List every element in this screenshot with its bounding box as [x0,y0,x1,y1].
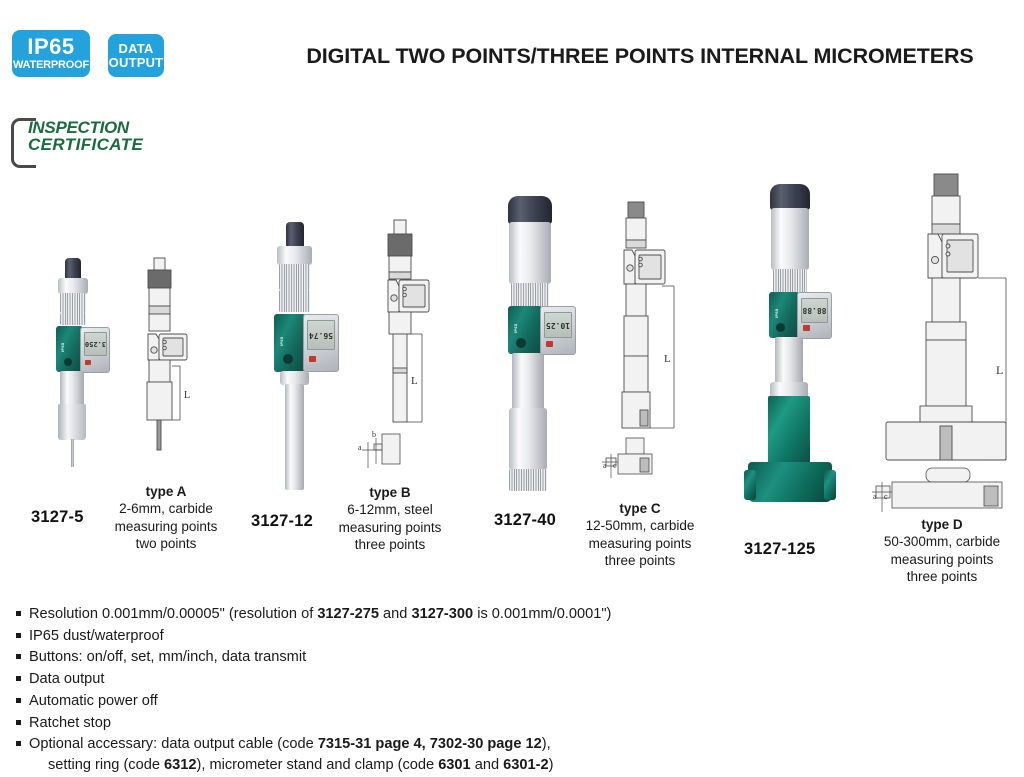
feature-span: Optional accessary: data output cable (c… [29,736,318,752]
power-button[interactable] [64,358,72,366]
bullet-square-icon [16,611,21,616]
feature-text: Automatic power off [29,693,158,709]
feature-body: Resolution 0.001mm/0.00005" (resolution … [29,604,1010,625]
inspection-certificate-text: INSPECTION CERTIFICATE [28,119,143,154]
feature-body: Buttons: on/off, set, mm/inch, data tran… [29,647,1010,668]
bullet-square-icon [16,698,21,703]
bullet-square-icon [16,676,21,681]
barrel-scale [60,313,86,325]
spec-line-0-1: 2-6mm, carbide [96,500,236,517]
lcd-housing: 56.74 [303,314,339,372]
technical-drawing-type-d: L a c [872,168,1024,518]
feature-text: Resolution 0.001mm/0.00005" (resolution … [29,606,611,622]
product-code-2: 3127-40 [494,511,556,530]
product-photo-3127-12: IP65 56.74 [262,222,338,490]
dimension-label-c: c [884,492,888,501]
lcd-reading: 56.74 [308,321,334,349]
feature-span: IP65 dust/waterproof [29,628,164,644]
thimble-cap [770,184,810,210]
ratchet-sleeve [277,246,312,265]
feature-body: Data output [29,669,1010,690]
spec-block-type-c: type C 12-50mm, carbide measuring points… [566,500,714,569]
feature-code: 6301-2 [503,757,548,773]
spindle-shaft [512,353,544,411]
product-photo-3127-5: IP65 3.250 [38,258,108,468]
feature-span: Automatic power off [29,693,158,709]
badge-inspection-certificate: INSPECTION CERTIFICATE [8,116,188,166]
type-name-1: type B [320,484,460,501]
spindle-shaft [60,371,84,405]
thimble-cap [508,196,552,224]
product-code-0: 3127-5 [31,508,84,527]
power-button[interactable] [516,338,526,348]
ip65-marking: IP65 [279,337,284,346]
dimension-label-a: a [873,492,877,501]
dimension-label-L: L [184,390,190,401]
bullet-square-icon [16,720,21,725]
feature-body: Ratchet stop [29,713,1010,734]
measuring-barrel [509,408,547,470]
measuring-head [509,469,547,491]
spec-line-2-2: measuring points [566,535,714,552]
ratchet-sleeve [509,222,551,284]
product-photo-3127-125: IP65 88.88 [742,184,838,520]
lcd-reading: 88.88 [802,299,827,322]
spec-line-1-1: 6-12mm, steel [320,501,460,518]
display-body: IP65 [508,306,542,354]
lcd-screen: 10.25 [544,312,572,338]
feature-text: setting ring (code 6312), micrometer sta… [48,757,553,773]
inspection-line2: CERTIFICATE [28,136,143,153]
spec-line-1-2: measuring points [320,519,460,536]
feature-code: 6301 [438,757,470,773]
feature-span: and [471,757,503,773]
feature-text: Ratchet stop [29,715,111,731]
ratchet-sleeve [771,208,809,270]
spec-line-3-1: 50-300mm, carbide [864,533,1020,550]
feature-span: and [379,606,411,622]
badge-data-line1: DATA [119,42,154,55]
feature-code: 3127-300 [411,606,473,622]
feature-span: setting ring (code [48,757,164,773]
spec-line-3-2: measuring points [864,551,1020,568]
badge-data-line2: OUTPUT [109,56,164,69]
display-body: IP65 [274,314,306,372]
dimension-label-a: a [358,443,362,452]
foot-right-jaw [824,470,836,500]
feature-body: Optional accessary: data output cable (c… [29,734,1010,775]
feature-item: Resolution 0.001mm/0.00005" (resolution … [10,604,1010,625]
feature-span: ) [549,757,554,773]
feature-item: Automatic power off [10,691,1010,712]
feature-span: Resolution 0.001mm/0.00005" (resolution … [29,606,317,622]
type-name-2: type C [566,500,714,517]
inspection-line1: INSPECTION [28,119,143,136]
lcd-screen: 3.250 [84,332,107,356]
spec-line-0-2: measuring points [96,518,236,535]
feature-text: IP65 dust/waterproof [29,628,164,644]
thimble-cap [286,222,304,248]
measuring-point-needle [71,439,74,467]
feature-span: Data output [29,671,104,687]
feature-item: IP65 dust/waterproof [10,626,1010,647]
feature-text: Data output [29,671,104,687]
feature-span: ), [542,736,551,752]
feature-item: Buttons: on/off, set, mm/inch, data tran… [10,647,1010,668]
badge-ip65-waterproof: IP65 WATERPROOF [12,30,90,77]
feature-text: Buttons: on/off, set, mm/inch, data tran… [29,649,306,665]
ip65-marking: IP65 [60,343,65,352]
bullet-square-icon [16,633,21,638]
spec-line-0-3: two points [96,535,236,552]
lcd-screen: 88.88 [801,298,828,323]
type-name-3: type D [864,516,1020,533]
ratchet-sleeve [58,278,88,294]
ip65-marking: IP65 [513,324,518,333]
spec-line-1-3: three points [320,536,460,553]
lower-collar [280,371,309,385]
dimension-label-c: c [613,461,617,470]
type-name-0: type A [96,483,236,500]
catalog-page: IP65 WATERPROOF DATA OUTPUT INSPECTION C… [0,0,1024,768]
power-button[interactable] [283,354,293,364]
lcd-screen: 56.74 [307,320,335,350]
feature-span: ), micrometer stand and clamp (code [196,757,438,773]
page-title: DIGITAL TWO POINTS/THREE POINTS INTERNAL… [262,44,1018,69]
feature-code: 7315-31 page 4, 7302-30 page 12 [318,736,542,752]
lcd-housing: 88.88 [797,292,832,339]
technical-drawing-type-c: L a c [602,198,702,488]
knurled-sleeve [511,283,549,307]
feature-text: Optional accessary: data output cable (c… [29,736,551,752]
set-button[interactable] [309,356,316,362]
set-button[interactable] [85,360,91,365]
spec-block-type-d: type D 50-300mm, carbide measuring point… [864,516,1020,585]
spec-line-3-3: three points [864,568,1020,585]
feature-code: 6312 [164,757,196,773]
lcd-housing: 10.25 [540,306,576,355]
bullet-square-icon [16,741,21,746]
ip65-marking: IP65 [774,309,779,318]
base-foot [748,462,832,502]
feature-span: is 0.001mm/0.0001") [473,606,611,622]
badge-data-output: DATA OUTPUT [108,34,164,77]
product-code-3: 3127-125 [744,540,815,559]
feature-span: Ratchet stop [29,715,111,731]
thimble-cap [65,258,81,280]
bullet-square-icon [16,654,21,659]
dimension-label-L: L [996,363,1003,377]
measuring-rod [285,384,304,490]
technical-drawing-type-a: L [132,256,244,456]
dimension-label-L: L [411,375,418,387]
technical-drawing-type-b: L a b [352,192,462,482]
foot-left-jaw [744,470,756,500]
badge-ip65-line2: WATERPROOF [13,60,89,71]
measuring-body-green [768,396,810,468]
power-button[interactable] [776,323,785,332]
display-body: IP65 [56,326,83,372]
dimension-label-L: L [664,353,671,365]
knurled-sleeve [60,293,86,313]
feature-list: Resolution 0.001mm/0.00005" (resolution … [10,604,1010,777]
measuring-head [58,404,86,440]
spec-block-type-b: type B 6-12mm, steel measuring points th… [320,484,460,553]
barrel-scale [279,290,310,312]
feature-item: Data output [10,669,1010,690]
feature-body: Automatic power off [29,691,1010,712]
product-photo-3127-40: IP65 10.25 [500,196,574,496]
spindle-shaft [775,337,803,387]
feature-body: IP65 dust/waterproof [29,626,1010,647]
spec-block-type-a: type A 2-6mm, carbide measuring points t… [96,483,236,552]
dimension-label-b: b [372,430,376,439]
lcd-housing: 3.250 [80,327,110,373]
knurled-sleeve [773,269,807,293]
set-button[interactable] [546,341,553,347]
lcd-reading: 10.25 [545,313,571,337]
dimension-label-a: a [603,461,607,470]
feature-code: 3127-275 [317,606,379,622]
display-body: IP65 [769,292,799,338]
feature-item: Optional accessary: data output cable (c… [10,734,1010,775]
feature-span: Buttons: on/off, set, mm/inch, data tran… [29,649,306,665]
knurled-sleeve [279,264,310,290]
product-code-1: 3127-12 [251,512,313,531]
set-button[interactable] [803,325,810,331]
feature-item: Ratchet stop [10,713,1010,734]
spec-line-2-3: three points [566,552,714,569]
spec-line-2-1: 12-50mm, carbide [566,517,714,534]
lcd-reading: 3.250 [85,333,106,355]
badge-ip65-line1: IP65 [27,36,74,58]
